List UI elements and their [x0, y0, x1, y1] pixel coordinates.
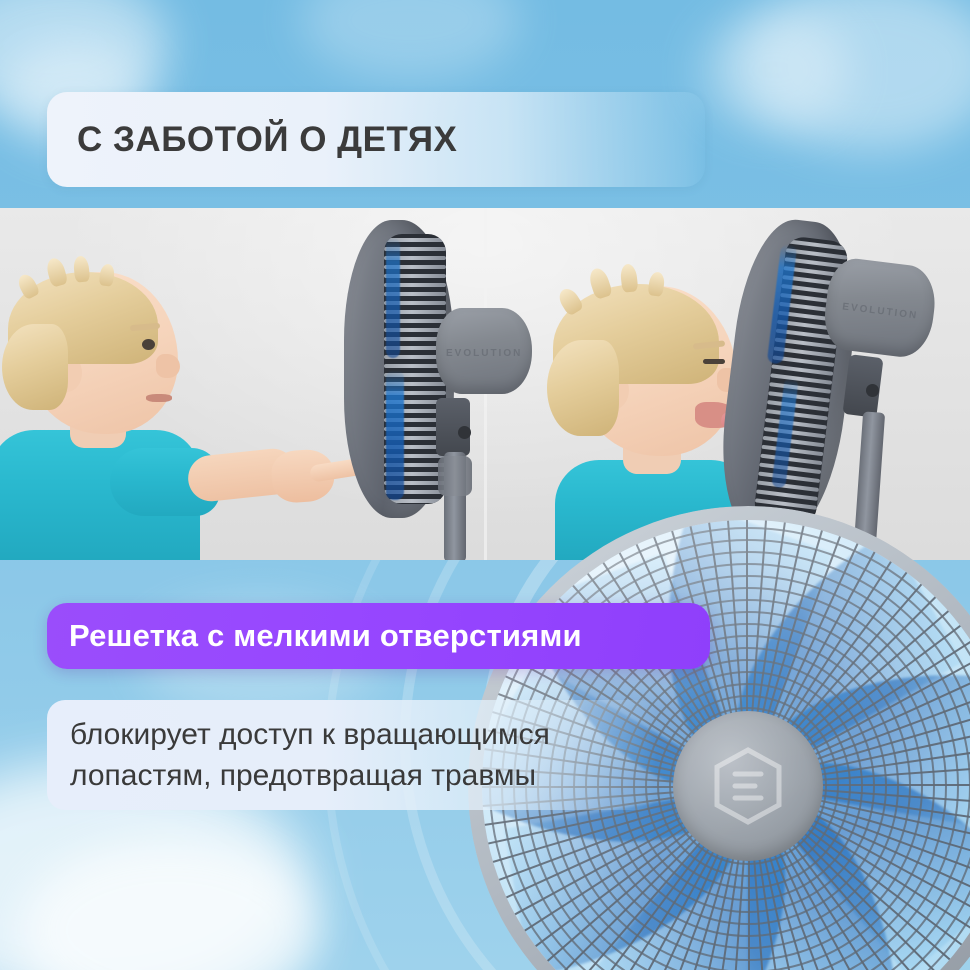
- page-title: С ЗАБОТОЙ О ДЕТЯХ: [77, 120, 457, 160]
- photo-left: EVOLUTION: [0, 208, 485, 560]
- fan-blades-blue: [386, 370, 404, 500]
- feature-body-line-2: лопастям, предотвращая травмы: [70, 755, 657, 796]
- photo-strip: EVOLUTION: [0, 208, 970, 560]
- feature-body-line-1: блокирует доступ к вращающимся: [70, 714, 657, 755]
- evolution-hex-logo: [711, 746, 785, 826]
- boy-hair-side: [2, 324, 68, 410]
- boy-hair-spike: [620, 263, 639, 293]
- boy-nose: [156, 354, 180, 378]
- fan-hub: [673, 711, 823, 861]
- boy-eye: [142, 339, 155, 350]
- feature-body-panel: блокирует доступ к вращающимся лопастям,…: [47, 700, 657, 810]
- boy-mouth: [146, 394, 172, 402]
- feature-headline-banner: Решетка с мелкими отверстиями: [47, 603, 710, 669]
- fan-adjust-knob: [866, 384, 879, 397]
- boy-hair-side: [547, 340, 619, 436]
- boy-pointing: [0, 260, 340, 560]
- fan-tilt-bracket: [438, 456, 472, 496]
- title-banner: С ЗАБОТОЙ О ДЕТЯХ: [47, 92, 705, 187]
- feature-headline: Решетка с мелкими отверстиями: [69, 618, 582, 654]
- promo-canvas: С ЗАБОТОЙ О ДЕТЯХ: [0, 0, 970, 970]
- boy-hair-spike: [73, 255, 91, 282]
- cloud-icon: [300, 0, 520, 80]
- fan-adjust-knob: [458, 426, 471, 439]
- cloud-icon: [700, 10, 850, 130]
- fan-blades-blue: [386, 238, 400, 358]
